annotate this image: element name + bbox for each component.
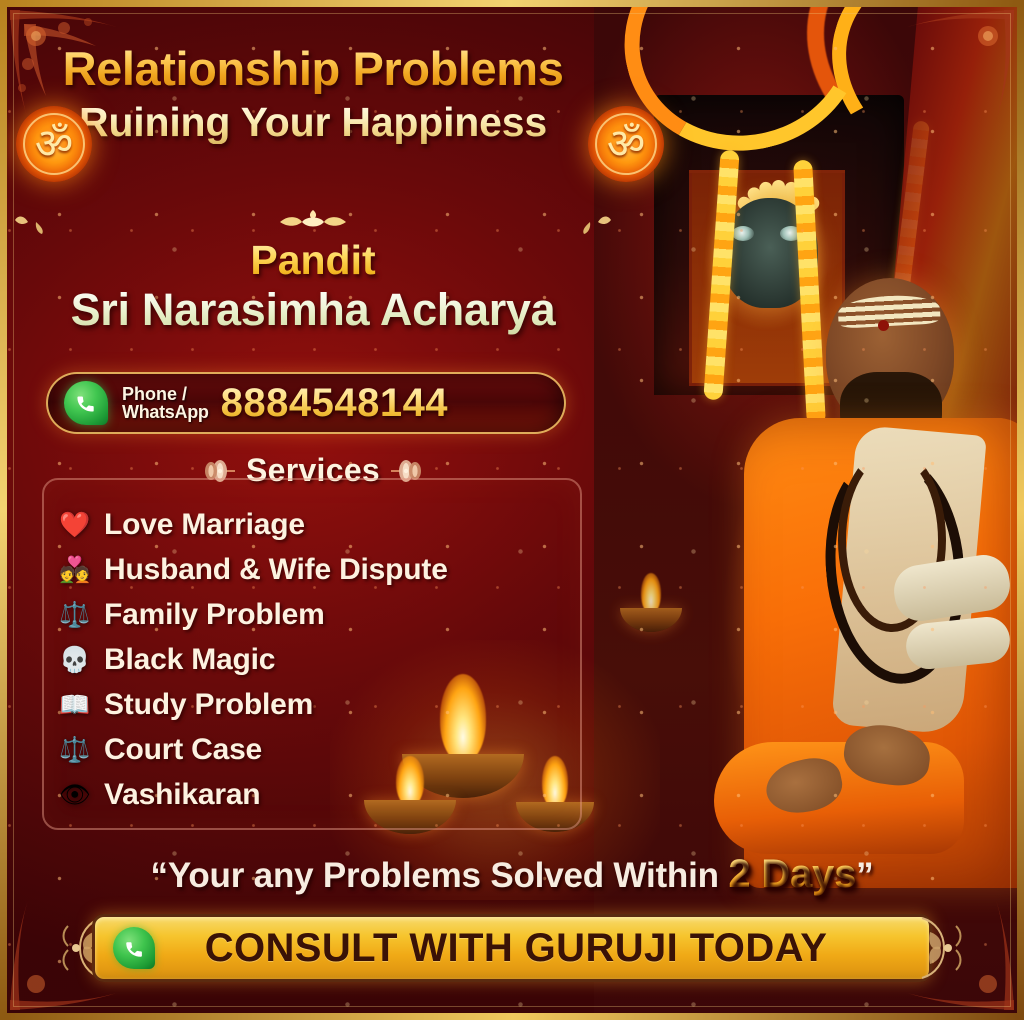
tagline-prefix: “Your any Problems Solved Within [151, 856, 729, 895]
om-icon: ॐ [607, 123, 645, 165]
couple-icon: 💑 [58, 557, 92, 582]
service-item[interactable]: ❤️ Love Marriage [58, 502, 578, 547]
phone-label: Phone / WhatsApp [122, 385, 209, 421]
service-label: Study Problem [104, 688, 313, 722]
service-item[interactable]: 💀 Black Magic [58, 637, 578, 682]
whatsapp-icon[interactable] [64, 381, 108, 425]
headline-line-1: Relationship Problems [0, 44, 626, 94]
diya-bowl [620, 608, 682, 632]
om-badge-right: ॐ [588, 106, 664, 182]
astrologer-title: Pandit [0, 238, 626, 283]
bindu-dot [878, 320, 889, 331]
consult-cta-button[interactable]: CONSULT WITH GURUJI TODAY [92, 914, 932, 982]
tagline: “Your any Problems Solved Within 2 Days” [0, 852, 1024, 897]
phone-number[interactable]: 8884548144 [221, 381, 548, 426]
tagline-highlight: 2 Days [728, 852, 856, 896]
ornamental-divider [14, 208, 612, 234]
service-label: Court Case [104, 733, 262, 767]
diya-lamp [620, 570, 682, 632]
phone-handset-glyph [122, 936, 147, 961]
eye-icon: 👁 [58, 782, 92, 807]
book-icon: 📖 [58, 692, 92, 717]
cta-ornament-right-icon [920, 912, 966, 984]
divider-flourish-icon [14, 208, 612, 234]
headline: Relationship Problems Ruining Your Happi… [0, 44, 626, 144]
service-label: Love Marriage [104, 508, 305, 542]
om-icon: ॐ [35, 123, 73, 165]
service-label: Family Problem [104, 598, 325, 632]
scales-icon: ⚖️ [58, 737, 92, 762]
astrologer-name: Sri Narasimha Acharya [0, 285, 626, 335]
tagline-suffix: ” [856, 856, 873, 895]
astrology-advertisement-poster: Relationship Problems Ruining Your Happi… [0, 0, 1024, 1020]
cta-container: CONSULT WITH GURUJI TODAY [58, 912, 966, 984]
service-label: Vashikaran [104, 778, 260, 812]
service-item[interactable]: ⚖️ Court Case [58, 727, 578, 772]
phone-label-line-1: Phone / [122, 384, 187, 404]
cta-label: CONSULT WITH GURUJI TODAY [155, 926, 911, 971]
service-item[interactable]: 📖 Study Problem [58, 682, 578, 727]
skull-icon: 💀 [58, 647, 92, 672]
phone-label-line-2: WhatsApp [122, 402, 209, 422]
phone-contact-pill[interactable]: Phone / WhatsApp 8884548144 [46, 372, 566, 434]
service-item[interactable]: 👁 Vashikaran [58, 772, 578, 817]
scales-icon: ⚖️ [58, 602, 92, 627]
whatsapp-icon[interactable] [113, 927, 155, 969]
service-label: Husband & Wife Dispute [104, 553, 448, 587]
phone-handset-glyph [73, 390, 99, 416]
om-badge-left: ॐ [16, 106, 92, 182]
service-item[interactable]: 💑 Husband & Wife Dispute [58, 547, 578, 592]
headline-line-2: Ruining Your Happiness [0, 100, 626, 144]
astrologer-name-block: Pandit Sri Narasimha Acharya [0, 238, 626, 335]
services-list: ❤️ Love Marriage 💑 Husband & Wife Disput… [58, 502, 578, 817]
service-item[interactable]: ⚖️ Family Problem [58, 592, 578, 637]
heart-icon: ❤️ [58, 512, 92, 537]
deity-eye-left [732, 226, 754, 241]
service-label: Black Magic [104, 643, 275, 677]
flame-icon [641, 573, 661, 613]
